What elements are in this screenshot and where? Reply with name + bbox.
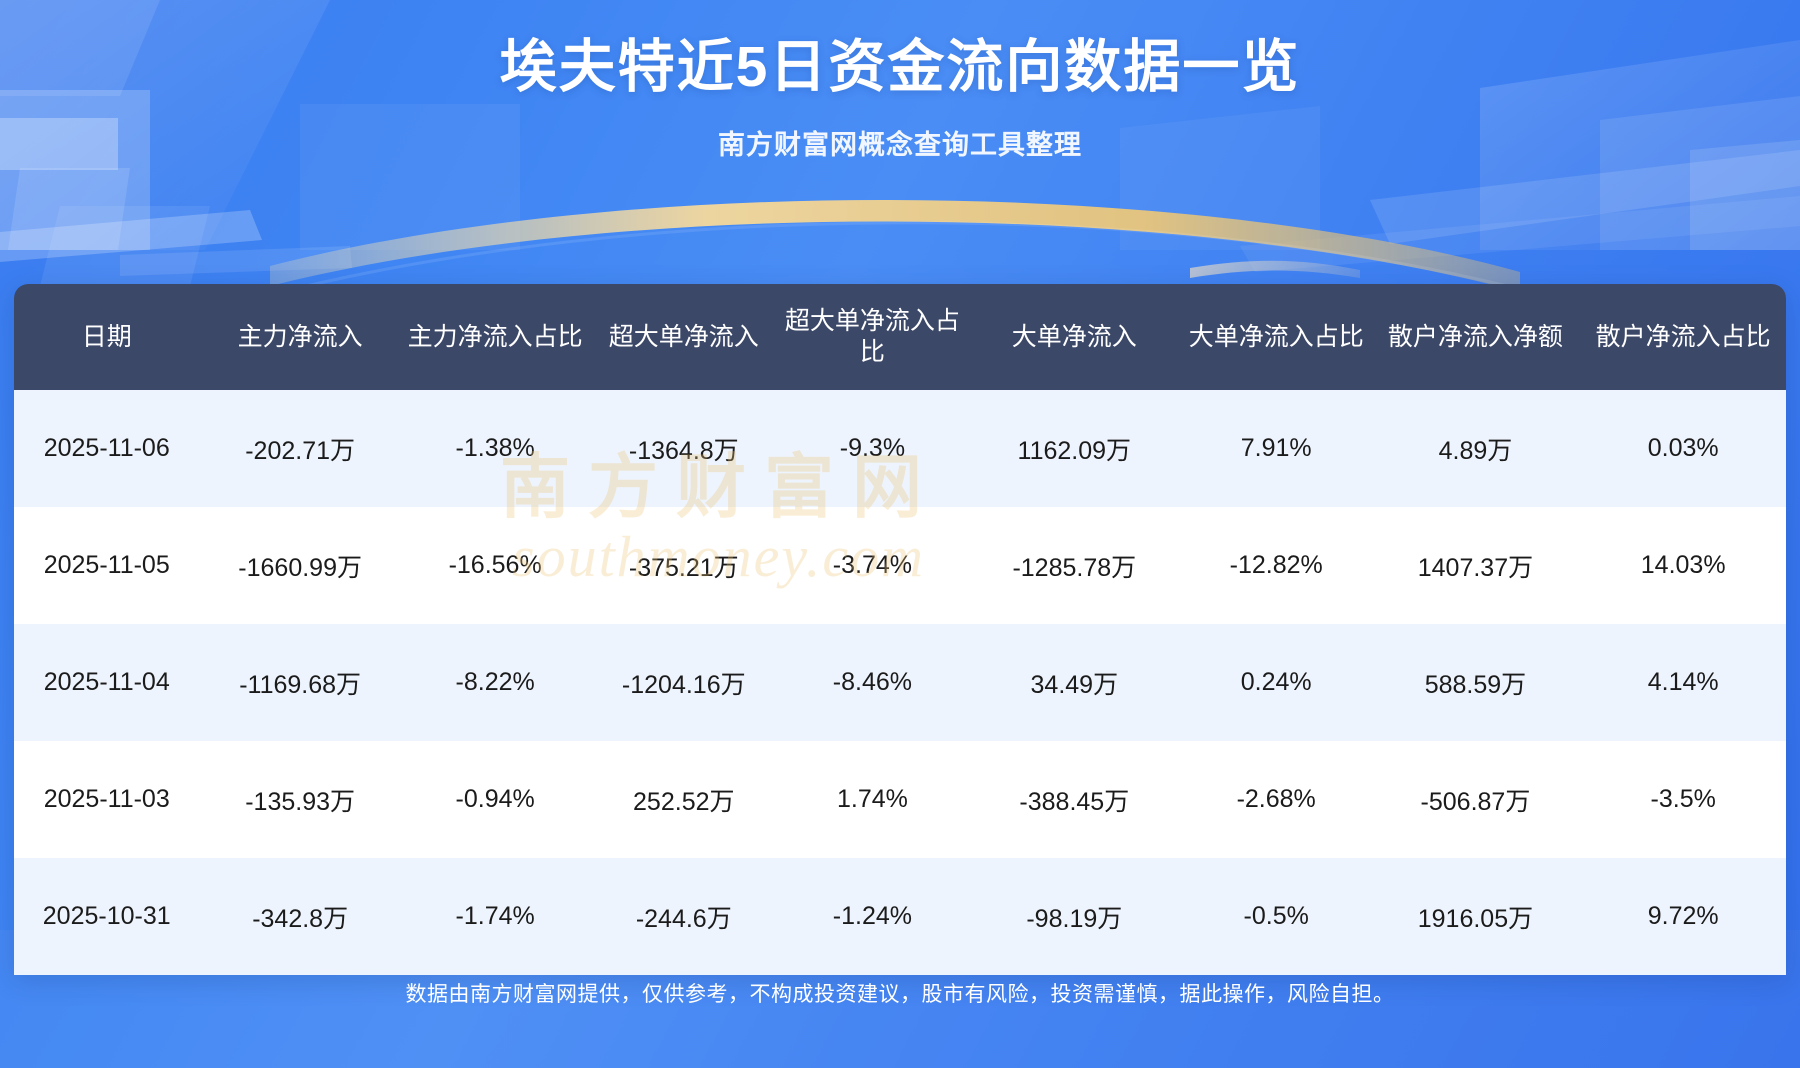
column-header-xl-pct[interactable]: 超大单净流入占比 xyxy=(778,284,967,390)
table-header-row: 日期 主力净流入 主力净流入占比 超大单净流入 超大单净流入占比 大单净流入 大… xyxy=(14,284,1786,390)
cell-xl-net: -375.21万 xyxy=(589,507,778,624)
cell-retail-pct: 9.72% xyxy=(1580,858,1786,975)
cell-retail-net: 1407.37万 xyxy=(1371,507,1581,624)
table-row: 2025-11-06 -202.71万 -1.38% -1364.8万 -9.3… xyxy=(14,390,1786,507)
cell-main-net: -202.71万 xyxy=(199,390,400,507)
cell-main-net: -1169.68万 xyxy=(199,624,400,741)
cell-lg-pct: -0.5% xyxy=(1182,858,1371,975)
cell-main-pct: -1.38% xyxy=(401,390,590,507)
cell-main-net: -1660.99万 xyxy=(199,507,400,624)
cell-date: 2025-10-31 xyxy=(14,858,199,975)
cell-date: 2025-11-04 xyxy=(14,624,199,741)
cell-date: 2025-11-06 xyxy=(14,390,199,507)
cell-main-pct: -16.56% xyxy=(401,507,590,624)
disclaimer-text: 数据由南方财富网提供，仅供参考，不构成投资建议，股市有风险，投资需谨慎，据此操作… xyxy=(406,983,1395,1006)
cell-retail-pct: 14.03% xyxy=(1580,507,1786,624)
infographic-page: 埃夫特近5日资金流向数据一览 南方财富网概念查询工具整理 南方财富网 south… xyxy=(0,0,1800,1068)
cell-retail-net: 4.89万 xyxy=(1371,390,1581,507)
cell-lg-pct: -12.82% xyxy=(1182,507,1371,624)
cell-lg-pct: -2.68% xyxy=(1182,741,1371,858)
cell-xl-pct: -3.74% xyxy=(778,507,967,624)
cell-main-pct: -1.74% xyxy=(401,858,590,975)
table-row: 2025-11-05 -1660.99万 -16.56% -375.21万 -3… xyxy=(14,507,1786,624)
page-title: 埃夫特近5日资金流向数据一览 xyxy=(0,34,1800,101)
cell-date: 2025-11-03 xyxy=(14,741,199,858)
cell-xl-pct: 1.74% xyxy=(778,741,967,858)
column-header-lg-pct[interactable]: 大单净流入占比 xyxy=(1182,284,1371,390)
table-row: 2025-10-31 -342.8万 -1.74% -244.6万 -1.24%… xyxy=(14,858,1786,975)
cell-lg-pct: 0.24% xyxy=(1182,624,1371,741)
cell-xl-pct: -8.46% xyxy=(778,624,967,741)
cell-lg-net: 34.49万 xyxy=(967,624,1182,741)
cell-lg-net: -388.45万 xyxy=(967,741,1182,858)
cell-retail-net: 588.59万 xyxy=(1371,624,1581,741)
page-header: 埃夫特近5日资金流向数据一览 南方财富网概念查询工具整理 xyxy=(0,0,1800,162)
column-header-date[interactable]: 日期 xyxy=(14,284,199,390)
cell-retail-pct: -3.5% xyxy=(1580,741,1786,858)
cell-main-net: -342.8万 xyxy=(199,858,400,975)
cell-retail-net: -506.87万 xyxy=(1371,741,1581,858)
cell-date: 2025-11-05 xyxy=(14,507,199,624)
column-header-xl-net[interactable]: 超大单净流入 xyxy=(589,284,778,390)
cell-main-pct: -0.94% xyxy=(401,741,590,858)
cell-xl-net: 252.52万 xyxy=(589,741,778,858)
cell-main-pct: -8.22% xyxy=(401,624,590,741)
data-table-card: 日期 主力净流入 主力净流入占比 超大单净流入 超大单净流入占比 大单净流入 大… xyxy=(14,284,1786,975)
page-subtitle: 南方财富网概念查询工具整理 xyxy=(0,123,1800,162)
table-row: 2025-11-03 -135.93万 -0.94% 252.52万 1.74%… xyxy=(14,741,1786,858)
column-header-retail-net[interactable]: 散户净流入净额 xyxy=(1371,284,1581,390)
cell-xl-net: -1364.8万 xyxy=(589,390,778,507)
cell-xl-net: -1204.16万 xyxy=(589,624,778,741)
fund-flow-table: 日期 主力净流入 主力净流入占比 超大单净流入 超大单净流入占比 大单净流入 大… xyxy=(14,284,1786,975)
cell-retail-net: 1916.05万 xyxy=(1371,858,1581,975)
column-header-main-net[interactable]: 主力净流入 xyxy=(199,284,400,390)
cell-retail-pct: 4.14% xyxy=(1580,624,1786,741)
cell-xl-pct: -9.3% xyxy=(778,390,967,507)
page-footer: 数据由南方财富网提供，仅供参考，不构成投资建议，股市有风险，投资需谨慎，据此操作… xyxy=(0,978,1800,1008)
cell-xl-pct: -1.24% xyxy=(778,858,967,975)
table-body: 2025-11-06 -202.71万 -1.38% -1364.8万 -9.3… xyxy=(14,390,1786,975)
column-header-lg-net[interactable]: 大单净流入 xyxy=(967,284,1182,390)
table-header: 日期 主力净流入 主力净流入占比 超大单净流入 超大单净流入占比 大单净流入 大… xyxy=(14,284,1786,390)
cell-main-net: -135.93万 xyxy=(199,741,400,858)
column-header-retail-pct[interactable]: 散户净流入占比 xyxy=(1580,284,1786,390)
cell-retail-pct: 0.03% xyxy=(1580,390,1786,507)
column-header-main-pct[interactable]: 主力净流入占比 xyxy=(401,284,590,390)
cell-lg-net: -1285.78万 xyxy=(967,507,1182,624)
table-row: 2025-11-04 -1169.68万 -8.22% -1204.16万 -8… xyxy=(14,624,1786,741)
cell-lg-pct: 7.91% xyxy=(1182,390,1371,507)
cell-lg-net: -98.19万 xyxy=(967,858,1182,975)
cell-lg-net: 1162.09万 xyxy=(967,390,1182,507)
cell-xl-net: -244.6万 xyxy=(589,858,778,975)
